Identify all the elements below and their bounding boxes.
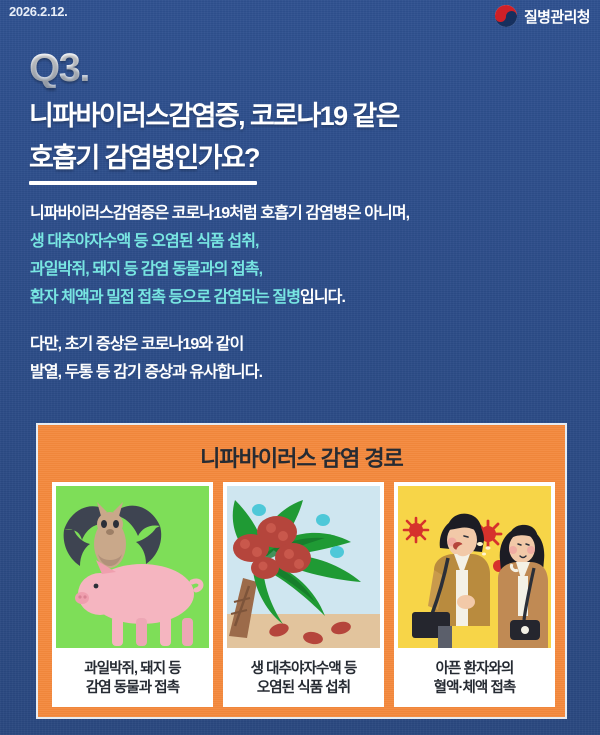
people-svg — [398, 486, 551, 648]
body-paragraph1-line4-highlight: 환자 체액과 밀접 접촉 등으로 감염되는 질병 — [30, 289, 300, 306]
taegeuk-swirl-red — [495, 11, 506, 22]
body-paragraph2-line2: 발열, 두통 등 감기 증상과 유사합니다. — [30, 365, 262, 381]
panel-caption-people-line2: 혈액·체액 접촉 — [396, 679, 553, 698]
transmission-panel-row: 과일박쥐, 돼지 등 감염 동물과 접촉 — [52, 482, 555, 707]
body-paragraph1-line1: 니파바이러스감염증은 코로나19처럼 호흡기 감염병은 아니며, — [30, 206, 409, 222]
transmission-routes-card: 니파바이러스 감염 경로 — [36, 423, 567, 719]
panel-caption-animals: 과일박쥐, 돼지 등 감염 동물과 접촉 — [52, 652, 213, 707]
agency-branding: 질병관리청 — [495, 5, 590, 27]
publish-date: 2026.2.12. — [9, 4, 67, 19]
body-paragraph2-line1: 다만, 초기 증상은 코로나19와 같이 — [30, 337, 243, 353]
panel-caption-palm-line2: 오염된 식품 섭취 — [225, 679, 382, 698]
title-underline — [29, 181, 257, 185]
card-title: 니파바이러스 감염 경로 — [38, 441, 565, 473]
body-paragraph1-line2: 생 대추야자수액 등 오염된 식품 섭취, — [30, 234, 259, 250]
panel-caption-animals-line1: 과일박쥐, 돼지 등 — [54, 660, 211, 679]
transmission-panel-people: 아픈 환자와의 혈액·체액 접촉 — [394, 482, 555, 707]
panel-caption-people-line1: 아픈 환자와의 — [396, 660, 553, 679]
panel-caption-palm: 생 대추야자수액 등 오염된 식품 섭취 — [223, 652, 384, 707]
page-title-line-2: 호흡기 감염병인가요? — [29, 145, 259, 172]
taegeuk-swirl-blue — [506, 11, 517, 22]
panel-caption-people: 아픈 환자와의 혈액·체액 접촉 — [394, 652, 555, 707]
palm-svg — [227, 486, 380, 648]
taegeuk-icon — [495, 5, 517, 27]
panel-caption-palm-line1: 생 대추야자수액 등 — [225, 660, 382, 679]
panel-caption-animals-line2: 감염 동물과 접촉 — [54, 679, 211, 698]
person-listening — [498, 525, 548, 648]
page-title-line-1: 니파바이러스감염증, 코로나19 같은 — [29, 103, 399, 130]
agency-name: 질병관리청 — [524, 6, 590, 27]
bat-pig-svg — [56, 486, 209, 648]
infographic-page: 2026.2.12. 질병관리청 Q3. 니파바이러스감염증, 코로나19 같은… — [0, 0, 600, 735]
transmission-panel-animals: 과일박쥐, 돼지 등 감염 동물과 접촉 — [52, 482, 213, 707]
fruit-bat-and-pig-illustration — [52, 482, 213, 652]
question-number: Q3. — [29, 48, 89, 88]
body-paragraph1-line4-plain: 입니다. — [300, 289, 345, 306]
sick-patient-contact-illustration — [394, 482, 555, 652]
body-paragraph1-line3: 과일박쥐, 돼지 등 감염 동물과의 접촉, — [30, 262, 262, 278]
transmission-panel-palm: 생 대추야자수액 등 오염된 식품 섭취 — [223, 482, 384, 707]
date-palm-tree-illustration — [223, 482, 384, 652]
body-paragraph1-line4: 환자 체액과 밀접 접촉 등으로 감염되는 질병입니다. — [30, 290, 345, 306]
